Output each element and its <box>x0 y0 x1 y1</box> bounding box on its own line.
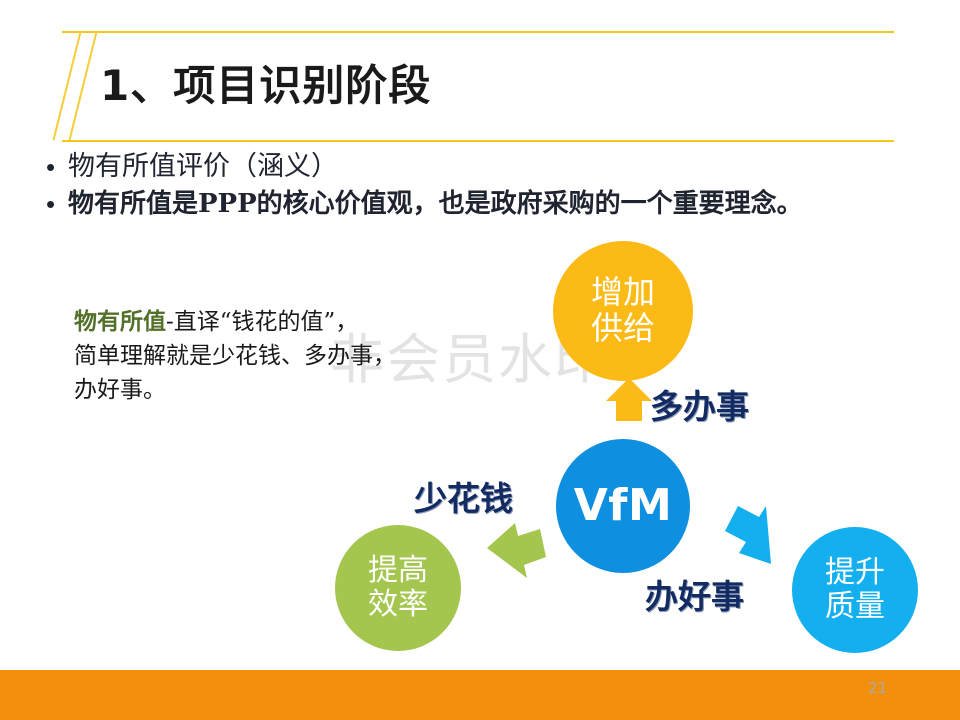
slide-canvas: 1、项目识别阶段 • 物有所值评价（涵义） • 物有所值是PPP的核心价值观，也… <box>0 0 960 720</box>
node-quality: 提升 质量 <box>792 527 918 653</box>
node-supply: 增加 供给 <box>553 241 693 381</box>
left-arrow-icon <box>487 523 546 578</box>
node-efficiency-line1: 提高 <box>368 553 428 588</box>
node-vfm: VfM <box>556 439 690 573</box>
right-arrow-icon <box>725 506 771 564</box>
node-supply-label: 增加 供给 <box>591 275 655 347</box>
node-vfm-label: VfM <box>574 481 672 530</box>
node-supply-line1: 增加 <box>591 273 655 311</box>
footer-bar <box>0 670 960 720</box>
node-quality-label: 提升 质量 <box>825 556 885 623</box>
node-efficiency-line2: 效率 <box>368 587 428 622</box>
node-quality-line1: 提升 <box>825 555 885 590</box>
node-efficiency-label: 提高 效率 <box>368 554 428 621</box>
arrow-label-good-work: 办好事 <box>645 570 744 618</box>
arrow-label-less-money: 少花钱 <box>414 472 513 520</box>
arrow-label-more-work: 多办事 <box>650 380 749 428</box>
up-arrow-icon <box>606 378 652 421</box>
node-efficiency: 提高 效率 <box>335 525 461 651</box>
node-quality-line2: 质量 <box>825 589 885 624</box>
page-number: 21 <box>868 679 887 697</box>
node-supply-line2: 供给 <box>591 309 655 347</box>
